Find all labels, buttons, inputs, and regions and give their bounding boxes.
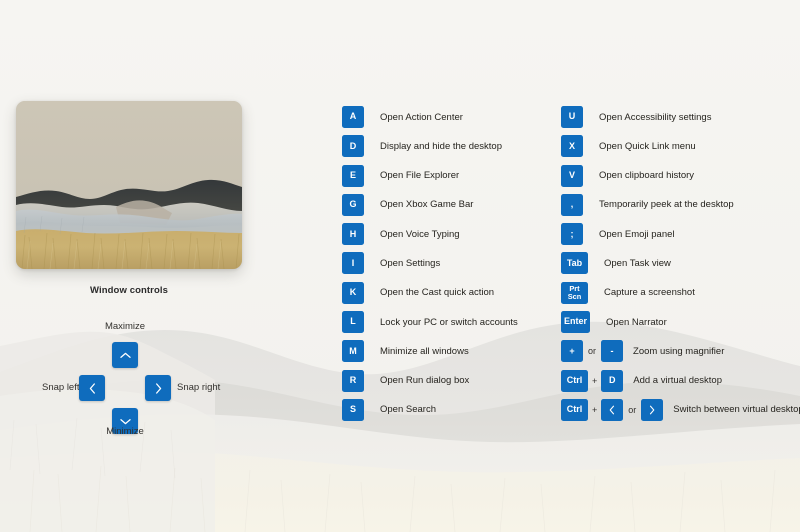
shortcut-description: Open Narrator — [606, 317, 667, 328]
shortcut-row: ,Temporarily peek at the desktop — [561, 194, 800, 216]
shortcut-description: Open Accessibility settings — [599, 112, 711, 123]
key-i[interactable]: I — [342, 252, 364, 274]
shortcut-row: GOpen Xbox Game Bar — [342, 194, 518, 216]
snap-right-key[interactable] — [145, 375, 171, 401]
shortcut-description: Zoom using magnifier — [633, 346, 724, 357]
key-d[interactable]: D — [342, 135, 364, 157]
maximize-label: Maximize — [0, 321, 250, 332]
shortcut-description: Open clipboard history — [599, 170, 694, 181]
key-l[interactable]: L — [342, 311, 364, 333]
key-joiner-plus: + — [588, 376, 601, 386]
chevron-left-icon — [89, 383, 96, 394]
key-ctrl[interactable]: Ctrl — [561, 399, 588, 421]
key-u[interactable]: U — [561, 106, 583, 128]
chevron-left-icon — [609, 405, 615, 415]
key-x[interactable]: X — [561, 135, 583, 157]
shortcut-description: Display and hide the desktop — [380, 141, 502, 152]
shortcut-list-left: AOpen Action CenterDDisplay and hide the… — [342, 106, 518, 428]
window-controls-diagram: Maximize Snap left Snap right Minimize — [0, 310, 258, 440]
shortcut-description: Open Emoji panel — [599, 229, 675, 240]
shortcut-description: Open Voice Typing — [380, 229, 460, 240]
chevron-right-icon — [155, 383, 162, 394]
shortcut-row: Ctrl+orSwitch between virtual desktops — [561, 399, 800, 421]
shortcut-description: Lock your PC or switch accounts — [380, 317, 518, 328]
window-controls-section-label: Window controls — [0, 285, 258, 296]
key-tab[interactable]: Tab — [561, 252, 588, 274]
shortcut-row: LLock your PC or switch accounts — [342, 311, 518, 333]
shortcut-row: DDisplay and hide the desktop — [342, 135, 518, 157]
key-m[interactable]: M — [342, 340, 364, 362]
key-h[interactable]: H — [342, 223, 364, 245]
shortcut-row: UOpen Accessibility settings — [561, 106, 800, 128]
key-r[interactable]: R — [342, 370, 364, 392]
key-joiner-or: or — [583, 346, 601, 356]
snap-left-label: Snap left — [42, 382, 80, 393]
shortcut-list-right: UOpen Accessibility settingsXOpen Quick … — [561, 106, 800, 428]
key--[interactable]: - — [601, 340, 623, 362]
shortcut-description: Switch between virtual desktops — [673, 404, 800, 415]
wallpaper-thumbnail-card[interactable] — [16, 101, 242, 269]
shortcut-row: AOpen Action Center — [342, 106, 518, 128]
shortcut-description: Open File Explorer — [380, 170, 459, 181]
snap-left-key[interactable] — [79, 375, 105, 401]
shortcut-row: EnterOpen Narrator — [561, 311, 800, 333]
shortcut-row: EOpen File Explorer — [342, 165, 518, 187]
chevron-right-icon — [649, 405, 655, 415]
chevron-down-icon — [120, 418, 131, 425]
shortcut-row: ;Open Emoji panel — [561, 223, 800, 245]
key-d[interactable]: D — [601, 370, 623, 392]
shortcut-description: Open Run dialog box — [380, 375, 469, 386]
key-+[interactable]: + — [561, 340, 583, 362]
maximize-key[interactable] — [112, 342, 138, 368]
shortcut-description: Minimize all windows — [380, 346, 469, 357]
key-k[interactable]: K — [342, 282, 364, 304]
shortcut-description: Capture a screenshot — [604, 287, 695, 298]
shortcut-row: Ctrl+DAdd a virtual desktop — [561, 370, 800, 392]
shortcut-description: Open the Cast quick action — [380, 287, 494, 298]
minimize-label: Minimize — [0, 426, 250, 437]
shortcut-row: +or-Zoom using magnifier — [561, 340, 800, 362]
shortcut-description: Open Settings — [380, 258, 440, 269]
shortcut-row: VOpen clipboard history — [561, 165, 800, 187]
key-chevron-left[interactable] — [601, 399, 623, 421]
key-ctrl[interactable]: Ctrl — [561, 370, 588, 392]
shortcut-description: Open Task view — [604, 258, 671, 269]
key-s[interactable]: S — [342, 399, 364, 421]
shortcut-description: Open Action Center — [380, 112, 463, 123]
shortcut-row: KOpen the Cast quick action — [342, 282, 518, 304]
shortcut-row: ROpen Run dialog box — [342, 370, 518, 392]
shortcut-row: SOpen Search — [342, 399, 518, 421]
key-,[interactable]: , — [561, 194, 583, 216]
key-e[interactable]: E — [342, 165, 364, 187]
wallpaper-thumbnail-image — [16, 101, 242, 269]
chevron-up-icon — [120, 352, 131, 359]
shortcut-row: XOpen Quick Link menu — [561, 135, 800, 157]
key-joiner-or: or — [623, 405, 641, 415]
key-prt-scn[interactable]: Prt Scn — [561, 282, 588, 304]
key-chevron-right[interactable] — [641, 399, 663, 421]
shortcut-description: Open Xbox Game Bar — [380, 199, 473, 210]
shortcut-row: MMinimize all windows — [342, 340, 518, 362]
shortcut-description: Add a virtual desktop — [633, 375, 722, 386]
key-enter[interactable]: Enter — [561, 311, 590, 333]
shortcut-description: Open Search — [380, 404, 436, 415]
snap-right-label: Snap right — [177, 382, 220, 393]
shortcut-description: Open Quick Link menu — [599, 141, 696, 152]
shortcut-row: IOpen Settings — [342, 252, 518, 274]
shortcut-row: Prt ScnCapture a screenshot — [561, 282, 800, 304]
key-;[interactable]: ; — [561, 223, 583, 245]
key-g[interactable]: G — [342, 194, 364, 216]
key-v[interactable]: V — [561, 165, 583, 187]
shortcut-description: Temporarily peek at the desktop — [599, 199, 734, 210]
key-joiner-plus: + — [588, 405, 601, 415]
shortcut-row: HOpen Voice Typing — [342, 223, 518, 245]
key-a[interactable]: A — [342, 106, 364, 128]
shortcut-row: TabOpen Task view — [561, 252, 800, 274]
